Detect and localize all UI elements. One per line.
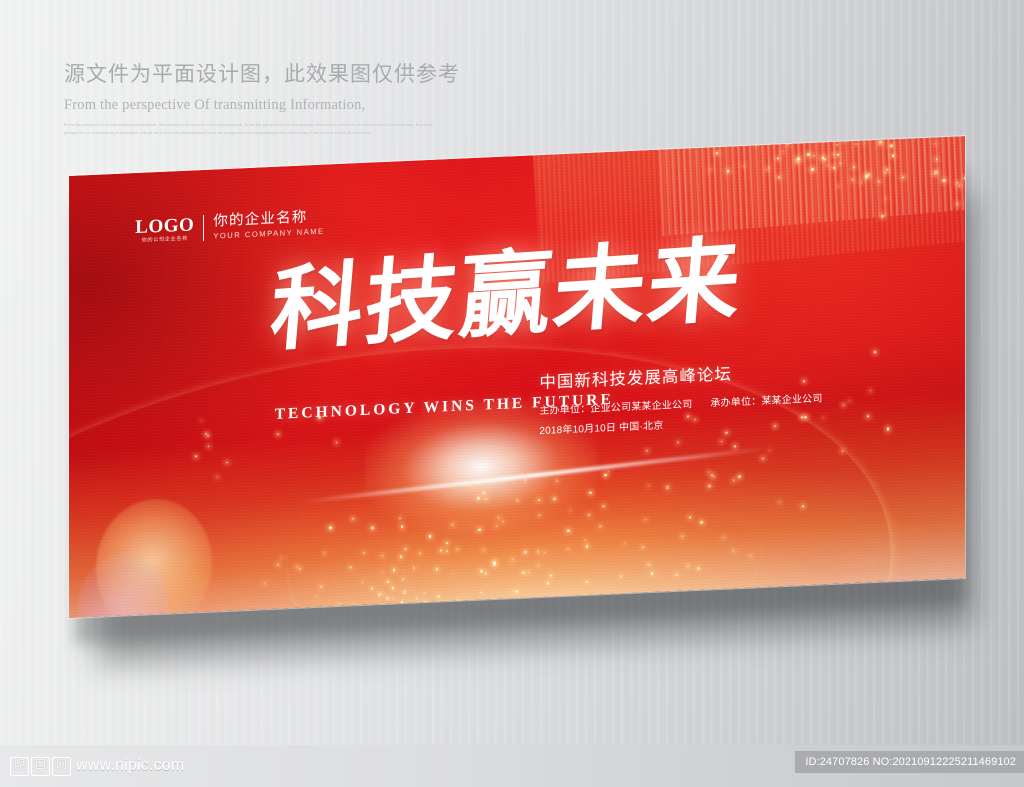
header-notes: 源文件为平面设计图，此效果图仅供参考 From the perspective … [64, 62, 624, 137]
company-name-group: 你的企业名称 YOUR COMPANY NAME [213, 209, 324, 241]
note-paragraph: From the perspective of transmitting inf… [64, 121, 446, 137]
watermark-char-1: 昵 [10, 757, 29, 776]
note-english: From the perspective Of transmitting Inf… [64, 97, 624, 114]
event-subtitle: 中国新科技发展高峰论坛 [539, 357, 822, 394]
event-info-group: 中国新科技发展高峰论坛 主办单位：企业公司某某企业公司 承办单位：某某企业公司 … [539, 357, 822, 438]
organizer-text: 主办单位：企业公司某某企业公司 [539, 400, 692, 418]
footer-bar: 昵 图 网 www.nipic.com ID:24707826 NO:20210… [0, 745, 1024, 787]
headline-chinese: 科技赢未来 [268, 229, 815, 358]
co-organizer-text: 承办单位：某某企业公司 [710, 394, 822, 410]
logo-mark: LOGO [135, 215, 194, 237]
headline-group: 科技赢未来 TECHNOLOGY WINS THE FUTURE [271, 240, 809, 358]
site-watermark[interactable]: 昵 图 网 www.nipic.com [10, 757, 184, 776]
logo-mark-group: LOGO 你的公司企业名称 [135, 215, 194, 244]
watermark-char-2: 图 [31, 757, 50, 776]
asset-id-badge: ID:24707826 NO:20210912225211469102 [795, 751, 1024, 773]
banner-content: LOGO 你的公司企业名称 你的企业名称 YOUR COMPANY NAME 科… [69, 136, 965, 618]
note-chinese: 源文件为平面设计图，此效果图仅供参考 [64, 62, 624, 88]
watermark-url[interactable]: www.nipic.com [76, 757, 184, 775]
logo-divider [203, 215, 204, 241]
watermark-logo-icon: 昵 图 网 [10, 757, 71, 776]
watermark-char-3: 网 [52, 757, 71, 776]
organizer-spacer [695, 407, 707, 408]
logo-mark-subtitle: 你的公司企业名称 [142, 237, 188, 244]
banner-board[interactable]: LOGO 你的公司企业名称 你的企业名称 YOUR COMPANY NAME 科… [69, 136, 965, 618]
logo-block[interactable]: LOGO 你的公司企业名称 你的企业名称 YOUR COMPANY NAME [135, 209, 324, 245]
page-canvas: 源文件为平面设计图，此效果图仅供参考 From the perspective … [0, 0, 1024, 787]
